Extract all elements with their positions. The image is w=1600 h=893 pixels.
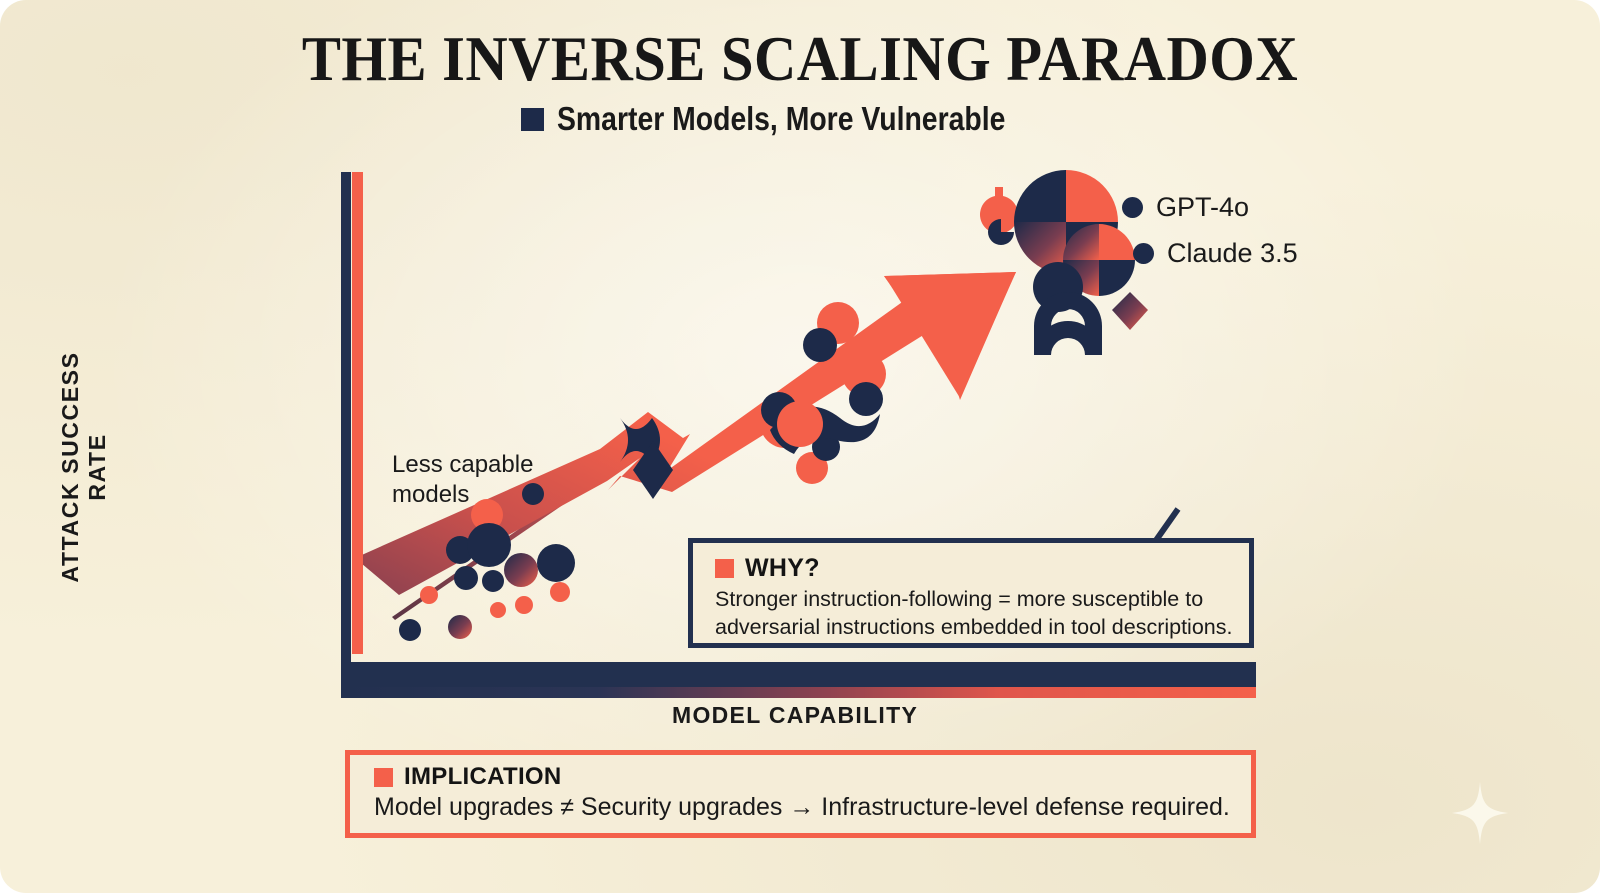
infographic-canvas: THE INVERSE SCALING PARADOX Smarter Mode…: [0, 0, 1600, 893]
implication-callout-box: IMPLICATION Model upgrades ≠ Security up…: [345, 750, 1256, 838]
x-axis-label: MODEL CAPABILITY: [672, 702, 918, 729]
subtitle-row: Smarter Models, More Vulnerable: [0, 100, 1600, 138]
legend-dot-icon: [1133, 243, 1154, 264]
scatter-cluster-mid: [620, 302, 886, 499]
legend-dot-icon: [1122, 197, 1143, 218]
implication-body-text: Model upgrades ≠ Security upgrades → Inf…: [374, 793, 1251, 822]
claude35-bubble: [1063, 224, 1135, 296]
square-bullet-icon: [521, 108, 544, 131]
square-bullet-icon: [715, 559, 734, 578]
sparkle-icon: [1452, 782, 1508, 844]
legend-label: GPT-4o: [1156, 192, 1249, 223]
square-bullet-icon: [374, 768, 393, 787]
why-body-text: Stronger instruction-following = more su…: [715, 586, 1249, 642]
legend-label: Claude 3.5: [1167, 238, 1298, 269]
y-axis-line: [341, 172, 351, 688]
page-title: THE INVERSE SCALING PARADOX: [56, 26, 1544, 92]
legend-item-gpt4o: GPT-4o: [1122, 192, 1249, 223]
legend-item-claude: Claude 3.5: [1133, 238, 1298, 269]
less-capable-annotation: Less capable models: [392, 450, 562, 510]
implication-header: IMPLICATION: [374, 763, 1251, 791]
y-axis-label: ATTACK SUCCESS RATE: [57, 317, 111, 617]
y-axis-accent: [352, 172, 363, 654]
x-axis-accent: [341, 687, 1256, 698]
why-callout-box: WHY? Stronger instruction-following = mo…: [688, 538, 1254, 648]
header: THE INVERSE SCALING PARADOX Smarter Mode…: [0, 26, 1600, 138]
gpt4o-bubble: [1014, 170, 1118, 274]
x-axis-line: [341, 662, 1256, 687]
why-title: WHY?: [745, 554, 820, 583]
implication-title: IMPLICATION: [404, 763, 562, 791]
page-subtitle: Smarter Models, More Vulnerable: [557, 100, 1005, 138]
why-header: WHY?: [715, 554, 1249, 583]
